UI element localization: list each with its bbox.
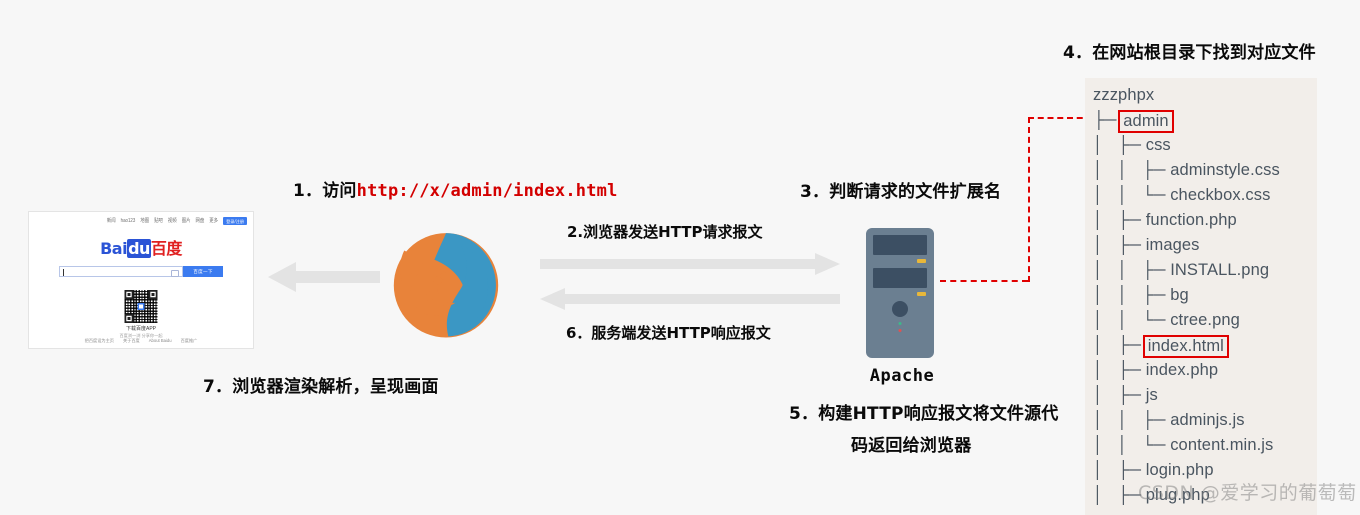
tree-branch-glyph: │ ├─ <box>1093 136 1146 154</box>
tree-branch-glyph: │ │ └─ <box>1093 436 1170 454</box>
file-tree-rows: zzzphpx ├─ admin │ ├─ css │ │ ├─ adminst… <box>1093 83 1280 508</box>
tree-item-label[interactable]: bg <box>1170 286 1189 304</box>
tree-branch-glyph: │ ├─ <box>1093 236 1146 254</box>
qr-code-image <box>125 290 158 323</box>
footer-link[interactable]: 把百度设为主页 <box>85 338 114 344</box>
tree-branch-glyph: │ ├─ <box>1093 361 1146 379</box>
baidu-search-row: 百度一下 <box>59 266 223 277</box>
arrow-response <box>540 288 840 310</box>
power-button-icon[interactable] <box>892 301 908 317</box>
tree-item-label[interactable]: js <box>1146 386 1158 404</box>
tree-root-label: zzzphpx <box>1093 86 1154 104</box>
baidu-nav-item[interactable]: 网盘 <box>195 218 204 225</box>
tree-branch-glyph: │ │ └─ <box>1093 311 1170 329</box>
tree-row[interactable]: │ │ ├─ adminjs.js <box>1093 408 1280 433</box>
step-1-url: http://x/admin/index.html <box>357 181 618 201</box>
arrow-render-to-browser <box>268 262 380 292</box>
footer-link[interactable]: About Baidu <box>149 338 172 344</box>
baidu-topnav: 新闻 hao123 地图 贴吧 视频 图片 网盘 更多 登录/注册 <box>107 217 247 225</box>
tree-row[interactable]: │ │ ├─ INSTALL.png <box>1093 258 1280 283</box>
tree-item-label[interactable]: images <box>1146 236 1200 254</box>
baidu-nav-item[interactable]: 地图 <box>140 218 149 225</box>
qr-eye-icon <box>149 290 158 299</box>
server-bay <box>873 235 927 255</box>
baidu-search-button[interactable]: 百度一下 <box>183 266 223 277</box>
arrow-request <box>540 253 840 275</box>
tree-row[interactable]: │ │ └─ ctree.png <box>1093 308 1280 333</box>
tree-row[interactable]: │ ├─ index.php <box>1093 358 1280 383</box>
tree-root-row: zzzphpx <box>1093 83 1280 108</box>
tree-item-label[interactable]: adminstyle.css <box>1170 161 1280 179</box>
step-1-prefix: 1．访问 <box>293 181 357 201</box>
watermark: CSDN @爱学习的葡萄萄 <box>1138 478 1357 505</box>
qr-eye-icon <box>125 290 134 299</box>
tree-branch-glyph: ├─ <box>1093 111 1121 129</box>
file-tree-panel: zzzphpx ├─ admin │ ├─ css │ │ ├─ adminst… <box>1085 78 1317 515</box>
baidu-logo-part-2: du <box>127 239 151 258</box>
text-caret <box>63 269 64 276</box>
tree-branch-glyph: │ ├─ <box>1093 336 1146 354</box>
qr-eye-icon <box>125 314 134 323</box>
baidu-logo-part-1: Bai <box>100 239 127 258</box>
baidu-nav-item[interactable]: 新闻 <box>107 218 116 225</box>
status-led-red <box>899 329 902 332</box>
baidu-nav-item[interactable]: 图片 <box>182 218 191 225</box>
baidu-nav-item[interactable]: 更多 <box>209 218 218 225</box>
tree-row[interactable]: │ ├─ js <box>1093 383 1280 408</box>
tree-branch-glyph: │ ├─ <box>1093 386 1146 404</box>
tree-item-label[interactable]: index.php <box>1146 361 1218 379</box>
step-5-label-line1: 5．构建HTTP响应报文将文件源代 <box>789 399 1059 424</box>
baidu-login-button[interactable]: 登录/注册 <box>223 217 247 225</box>
tree-row[interactable]: │ ├─ index.html <box>1093 333 1280 358</box>
step-2-label: 2.浏览器发送HTTP请求报文 <box>567 221 763 242</box>
tree-item-index-html[interactable]: index.html <box>1143 335 1229 358</box>
tree-branch-glyph: │ │ └─ <box>1093 186 1170 204</box>
step-4-label: 4．在网站根目录下找到对应文件 <box>1063 38 1316 63</box>
baidu-nav-item[interactable]: hao123 <box>121 218 136 225</box>
tree-branch-glyph: │ ├─ <box>1093 211 1146 229</box>
apache-server-group: Apache <box>866 228 938 386</box>
tree-row[interactable]: │ │ └─ content.min.js <box>1093 433 1280 458</box>
tree-row[interactable]: │ │ ├─ bg <box>1093 283 1280 308</box>
tree-row[interactable]: │ ├─ images <box>1093 233 1280 258</box>
tree-row[interactable]: │ ├─ function.php <box>1093 208 1280 233</box>
tree-item-label[interactable]: login.php <box>1146 461 1214 479</box>
dash-route-up <box>1028 117 1030 282</box>
server-bay-led <box>917 292 926 296</box>
tree-branch-glyph: │ │ ├─ <box>1093 411 1170 429</box>
diagram-canvas: 1．访问http://x/admin/index.html 新闻 hao123 … <box>0 0 1360 515</box>
camera-icon[interactable] <box>171 270 179 277</box>
step-1-label: 1．访问http://x/admin/index.html <box>293 176 618 201</box>
baidu-nav-item[interactable]: 视频 <box>168 218 177 225</box>
server-bay-led <box>917 259 926 263</box>
baidu-nav-item[interactable]: 贴吧 <box>154 218 163 225</box>
tree-row[interactable]: │ ├─ css <box>1093 133 1280 158</box>
tree-item-label[interactable]: content.min.js <box>1170 436 1273 454</box>
step-7-label: 7．浏览器渲染解析，呈现画面 <box>203 372 439 397</box>
server-bay <box>873 268 927 288</box>
step-3-label: 3．判断请求的文件扩展名 <box>800 177 1001 202</box>
tree-item-label[interactable]: ctree.png <box>1170 311 1240 329</box>
status-led-green <box>899 322 902 325</box>
dash-server-out <box>940 280 1028 282</box>
baidu-logo: Baidu百度 <box>29 240 253 258</box>
step-5-label-line2: 码返回给浏览器 <box>851 431 971 456</box>
tree-item-label[interactable]: function.php <box>1146 211 1237 229</box>
tree-row[interactable]: │ │ └─ checkbox.css <box>1093 183 1280 208</box>
step-6-label: 6．服务端发送HTTP响应报文 <box>566 322 771 343</box>
tree-branch-glyph: │ │ ├─ <box>1093 261 1170 279</box>
footer-link[interactable]: 百度推广 <box>181 338 198 344</box>
tree-item-label[interactable]: adminjs.js <box>1170 411 1244 429</box>
tree-row[interactable]: │ │ ├─ adminstyle.css <box>1093 158 1280 183</box>
tree-item-label[interactable]: INSTALL.png <box>1170 261 1269 279</box>
tree-branch-glyph: │ ├─ <box>1093 461 1146 479</box>
tree-branch-glyph: │ │ ├─ <box>1093 161 1170 179</box>
baidu-logo-part-3: 百度 <box>151 239 182 258</box>
tree-row[interactable]: ├─ admin <box>1093 108 1280 133</box>
tree-item-label[interactable]: checkbox.css <box>1170 186 1270 204</box>
server-tower-icon <box>866 228 934 358</box>
tree-branch-glyph: │ │ ├─ <box>1093 286 1170 304</box>
qr-caption: 下载百度APP <box>29 326 253 333</box>
tree-item-admin[interactable]: admin <box>1118 110 1173 133</box>
baidu-search-input[interactable] <box>59 266 183 277</box>
browser-screenshot: 新闻 hao123 地图 贴吧 视频 图片 网盘 更多 登录/注册 Baidu百… <box>28 211 254 349</box>
firefox-logo-icon <box>388 225 504 341</box>
footer-link[interactable]: 关于百度 <box>123 338 140 344</box>
baidu-footer: 把百度设为主页 关于百度 About Baidu 百度推广 <box>29 338 253 344</box>
tree-item-label[interactable]: css <box>1146 136 1171 154</box>
apache-label: Apache <box>866 366 938 386</box>
